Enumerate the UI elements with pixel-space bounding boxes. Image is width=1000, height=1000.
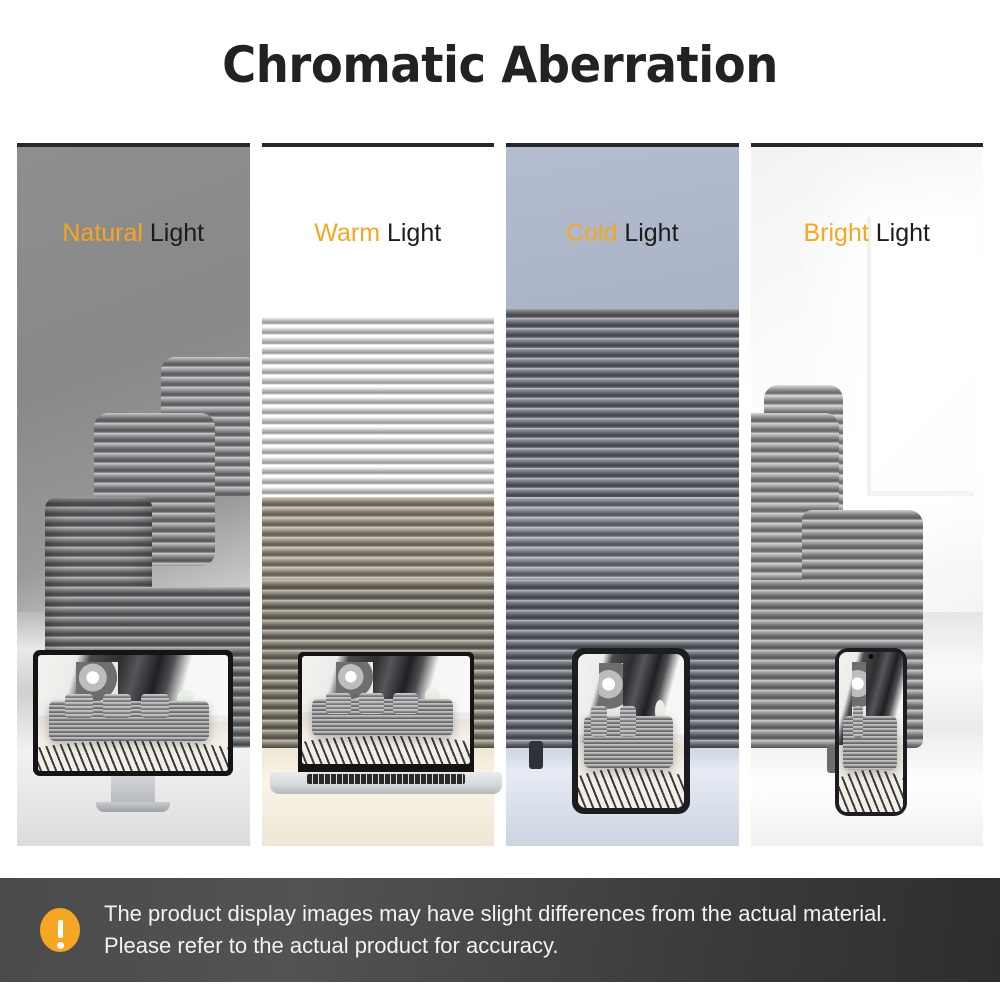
scene-pillow	[393, 693, 418, 715]
monitor-bezel	[33, 650, 233, 776]
living-room-scene	[38, 655, 228, 771]
device-laptop	[270, 652, 502, 812]
warning-exclamation-icon	[40, 908, 80, 952]
scene-pillow	[326, 693, 351, 715]
scene-pillow	[853, 706, 863, 738]
living-room-scene	[839, 652, 903, 812]
disclaimer-text: The product display images may have slig…	[104, 898, 887, 962]
panel-label-rest: Light	[617, 219, 678, 247]
phone-frame	[835, 648, 907, 816]
warning-icon-disc	[40, 908, 80, 952]
monitor-stand-neck	[111, 776, 155, 802]
panel-label-rest: Light	[143, 219, 204, 247]
scene-pillow	[65, 694, 94, 717]
tablet-screen	[578, 654, 684, 808]
disclaimer-line-1: The product display images may have slig…	[104, 901, 887, 926]
disclaimer-bar: The product display images may have slig…	[0, 878, 1000, 982]
scene-pillow	[103, 694, 132, 717]
laptop-base	[270, 772, 502, 794]
scene-rug	[839, 770, 903, 812]
scene-pillow	[591, 706, 607, 737]
living-room-scene	[302, 656, 470, 764]
device-tablet	[572, 648, 690, 814]
panel-label-rest: Light	[869, 219, 930, 247]
panel-label-highlight: Warm	[314, 219, 380, 247]
page-title: Chromatic Aberration	[35, 36, 965, 94]
panel-label-natural: Natural Light	[17, 219, 250, 248]
scene-pillow	[141, 694, 170, 717]
laptop-lid	[298, 652, 474, 772]
tablet-frame	[572, 648, 690, 814]
panel-label-highlight: Cold	[566, 219, 617, 247]
phone-camera-icon	[869, 654, 874, 659]
monitor-stand-foot	[96, 802, 170, 812]
panel-label-highlight: Bright	[804, 219, 869, 247]
scene-rug	[302, 736, 470, 764]
sofa-backrest	[262, 315, 495, 511]
panel-label-bright: Bright Light	[751, 219, 984, 248]
device-smartphone	[835, 648, 907, 816]
laptop-screen	[302, 656, 470, 764]
scene-pillow	[359, 693, 384, 715]
living-room-scene	[578, 654, 684, 808]
warning-icon-bang	[58, 920, 63, 938]
sofa-backrest	[506, 308, 739, 511]
phone-screen	[839, 652, 903, 812]
scene-rug	[38, 741, 228, 771]
panel-label-warm: Warm Light	[262, 219, 495, 248]
scene-pillow	[620, 706, 636, 737]
disclaimer-line-2: Please refer to the actual product for a…	[104, 930, 887, 962]
scene-rug	[578, 768, 684, 808]
panel-label-cold: Cold Light	[506, 219, 739, 248]
device-mockups-row	[17, 640, 983, 850]
product-chromatic-aberration-page: Chromatic Aberration Natural Light	[0, 0, 1000, 1000]
panel-label-rest: Light	[380, 219, 441, 247]
panel-label-highlight: Natural	[62, 219, 143, 247]
device-desktop-monitor	[33, 650, 233, 810]
monitor-screen	[38, 655, 228, 771]
scene-sofa	[843, 716, 897, 770]
laptop-keyboard	[307, 774, 465, 784]
